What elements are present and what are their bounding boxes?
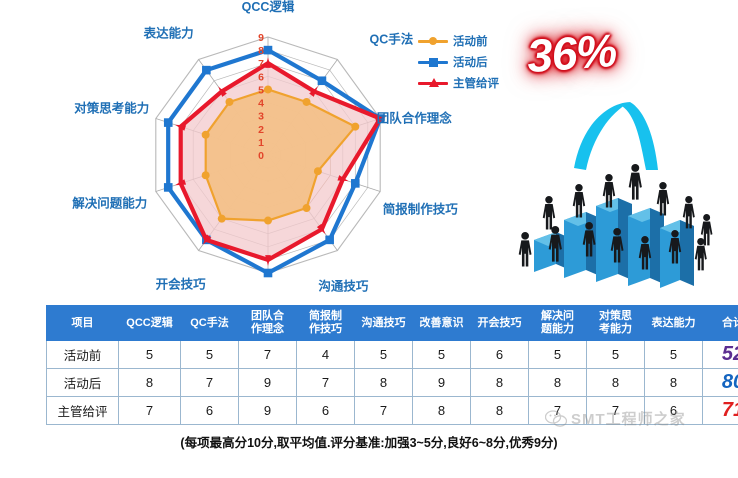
row-total-0: 52 (703, 341, 738, 369)
score-table-element: 项目QCC逻辑QC手法团队合作理念简报制作技巧沟通技巧改善意识开会技巧解决问题能… (46, 305, 738, 425)
table-header-7: 开会技巧 (471, 306, 529, 341)
axis-label-8: 对策思考能力 (74, 101, 149, 116)
cell-r0-c4: 5 (355, 341, 413, 369)
cell-r2-c3: 6 (297, 397, 355, 425)
cell-r1-c2: 9 (239, 369, 297, 397)
cell-r2-c5: 8 (413, 397, 471, 425)
cell-r0-c7: 5 (529, 341, 587, 369)
graphic-svg (512, 100, 734, 292)
r-tick-9: 9 (258, 32, 264, 44)
r-tick-4: 4 (258, 98, 264, 110)
legend-label-after: 活动后 (453, 54, 488, 70)
legend-label-before: 活动前 (453, 33, 488, 49)
cell-r1-c6: 8 (471, 369, 529, 397)
point-1-5 (264, 269, 273, 278)
cell-r0-c6: 6 (471, 341, 529, 369)
upward-arrow-icon (574, 102, 658, 170)
point-0-9 (225, 98, 233, 106)
point-0-4 (303, 204, 311, 212)
r-tick-7: 7 (258, 58, 264, 70)
row-label-2: 主管给评 (47, 397, 119, 425)
point-0-0 (264, 85, 272, 93)
table-header-2: QC手法 (181, 306, 239, 341)
axis-label-3: 简报制作技巧 (383, 202, 459, 217)
r-tick-5: 5 (258, 84, 264, 96)
axis-label-2: 团队合作理念 (377, 111, 453, 126)
legend-marker-square-icon (418, 56, 448, 68)
r-tick-6: 6 (258, 71, 264, 83)
cell-r0-c8: 5 (587, 341, 645, 369)
point-1-7 (164, 183, 173, 192)
cell-r2-c2: 9 (239, 397, 297, 425)
watermark-text: SMT工程师之家 (571, 408, 686, 429)
row-total-2: 71 (703, 397, 738, 425)
cell-r1-c8: 8 (587, 369, 645, 397)
point-1-8 (164, 118, 173, 127)
row-label-1: 活动后 (47, 369, 119, 397)
axis-label-4: 沟通技巧 (318, 279, 369, 294)
legend-item-after: 活动后 (418, 53, 499, 71)
point-1-9 (202, 66, 211, 75)
legend-marker-circle-icon (418, 35, 448, 47)
r-tick-1: 1 (258, 137, 264, 149)
cell-r0-c5: 5 (413, 341, 471, 369)
cell-r2-c0: 7 (119, 397, 181, 425)
table-header-3: 团队合作理念 (239, 306, 297, 341)
table-header-row: 项目QCC逻辑QC手法团队合作理念简报制作技巧沟通技巧改善意识开会技巧解决问题能… (47, 306, 738, 341)
cell-r1-c1: 7 (181, 369, 239, 397)
table-row: 活动后879789888880 (47, 369, 738, 397)
point-0-6 (218, 215, 226, 223)
axis-label-6: 开会技巧 (156, 277, 207, 292)
table-header-4: 简报制作技巧 (297, 306, 355, 341)
score-table: 项目QCC逻辑QC手法团队合作理念简报制作技巧沟通技巧改善意识开会技巧解决问题能… (46, 305, 707, 425)
table-header-11: 合计 (703, 306, 738, 341)
cell-r0-c2: 7 (239, 341, 297, 369)
r-tick-3: 3 (258, 111, 264, 123)
cell-r1-c7: 8 (529, 369, 587, 397)
r-tick-8: 8 (258, 45, 264, 57)
point-0-5 (264, 217, 272, 225)
point-1-3 (351, 179, 360, 188)
table-header-9: 对策思考能力 (587, 306, 645, 341)
axis-label-1: QC手法 (370, 32, 414, 47)
cell-r0-c0: 5 (119, 341, 181, 369)
cell-r2-c4: 7 (355, 397, 413, 425)
scoring-caption: (每项最高分10分,取平均值.评分基准:加强3~5分,良好6~8分,优秀9分) (0, 432, 738, 451)
cell-r1-c3: 7 (297, 369, 355, 397)
row-label-0: 活动前 (47, 341, 119, 369)
axis-label-9: 表达能力 (143, 26, 194, 41)
cell-r1-c4: 8 (355, 369, 413, 397)
table-header-6: 改善意识 (413, 306, 471, 341)
table-row: 活动前557455655552 (47, 341, 738, 369)
cell-r1-c9: 8 (645, 369, 703, 397)
table-header-0: 项目 (47, 306, 119, 341)
cell-r1-c0: 8 (119, 369, 181, 397)
point-0-2 (351, 123, 359, 131)
point-1-4 (325, 236, 334, 245)
r-tick-0: 0 (258, 150, 264, 162)
cell-r0-c9: 5 (645, 341, 703, 369)
legend-item-before: 活动前 (418, 32, 499, 50)
cell-r1-c5: 9 (413, 369, 471, 397)
point-1-1 (318, 76, 327, 85)
point-1-0 (264, 46, 273, 55)
table-header-10: 表达能力 (645, 306, 703, 341)
cell-r2-c6: 8 (471, 397, 529, 425)
point-0-1 (303, 98, 311, 106)
table-head: 项目QCC逻辑QC手法团队合作理念简报制作技巧沟通技巧改善意识开会技巧解决问题能… (47, 306, 738, 341)
table-header-8: 解决问题能力 (529, 306, 587, 341)
legend-marker-triangle-icon (418, 77, 448, 89)
table-header-5: 沟通技巧 (355, 306, 413, 341)
business-people-graphic (512, 100, 734, 292)
point-0-7 (202, 171, 210, 179)
axis-label-7: 解决问题能力 (72, 196, 147, 211)
point-0-3 (314, 167, 322, 175)
slide-root: 0123456789QCC逻辑QC手法团队合作理念简报制作技巧沟通技巧改善意识开… (0, 0, 738, 478)
r-tick-2: 2 (258, 124, 264, 136)
axis-label-0: QCC逻辑 (242, 0, 295, 14)
wechat-icon (545, 410, 567, 428)
chart-legend: 活动前 活动后 主管给评 (418, 32, 499, 95)
cell-r0-c1: 5 (181, 341, 239, 369)
point-0-8 (202, 131, 210, 139)
legend-label-supervisor: 主管给评 (453, 75, 499, 91)
cell-r0-c3: 4 (297, 341, 355, 369)
watermark: SMT工程师之家 (545, 408, 686, 429)
row-total-1: 80 (703, 369, 738, 397)
legend-item-supervisor: 主管给评 (418, 74, 499, 92)
percent-highlight: 36% (525, 23, 618, 83)
table-header-1: QCC逻辑 (119, 306, 181, 341)
cell-r2-c1: 6 (181, 397, 239, 425)
